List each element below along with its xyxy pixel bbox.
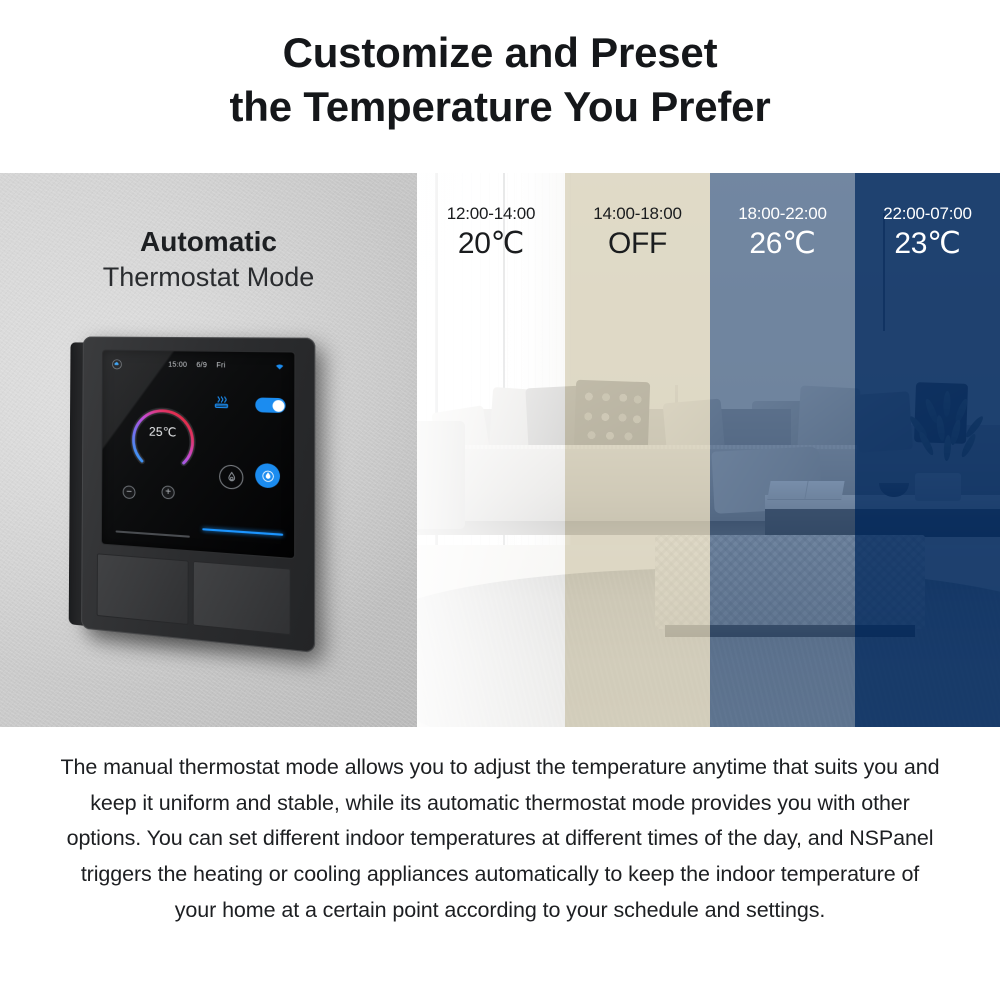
- status-time: 15:00: [168, 361, 187, 368]
- schedule-panel-4: 22:00-07:00 23℃: [855, 173, 1000, 727]
- temperature-dial[interactable]: 25℃: [120, 387, 207, 478]
- humidity-mode-button[interactable]: [219, 464, 243, 489]
- thermostat-mode-button[interactable]: [255, 463, 280, 489]
- headline-line-2: the Temperature You Prefer: [0, 80, 1000, 134]
- wifi-icon: [275, 362, 285, 372]
- schedule-value-1: 20℃: [417, 224, 565, 265]
- cloud-icon: [112, 359, 123, 370]
- mode-title-bold: Automatic: [0, 225, 417, 260]
- schedule-time-4: 22:00-07:00: [855, 205, 1000, 224]
- hero-image: Automatic Thermostat Mode: [0, 173, 1000, 727]
- schedule-value-2: OFF: [565, 224, 710, 265]
- schedule-overlay-panels: 12:00-14:00 20℃ 14:00-18:00 OFF 18:00-22…: [417, 173, 1000, 727]
- status-date: 6/9: [196, 362, 207, 369]
- product-feature-page: Customize and Preset the Temperature You…: [0, 0, 1000, 1000]
- schedule-time-2: 14:00-18:00: [565, 205, 710, 224]
- device-body-3d: 15:00 6/9 Fri: [81, 337, 315, 653]
- schedule-value-4: 23℃: [855, 224, 1000, 265]
- physical-button-right[interactable]: [193, 561, 291, 635]
- page-title: Customize and Preset the Temperature You…: [0, 26, 1000, 134]
- heater-icon: [213, 395, 230, 410]
- nspanel-device[interactable]: 15:00 6/9 Fri: [82, 336, 322, 646]
- indicator-bar-right: [202, 528, 283, 535]
- schedule-panel-2: 14:00-18:00 OFF: [565, 173, 710, 727]
- decrease-temperature-button[interactable]: −: [123, 485, 136, 499]
- schedule-time-1: 12:00-14:00: [417, 205, 565, 224]
- schedule-panel-1: 12:00-14:00 20℃: [417, 173, 565, 727]
- physical-button-left[interactable]: [97, 553, 189, 625]
- automatic-mode-heading: Automatic Thermostat Mode: [0, 225, 417, 295]
- indicator-bar-left: [116, 530, 190, 537]
- mode-title-regular: Thermostat Mode: [0, 260, 417, 295]
- screen-status-bar: 15:00 6/9 Fri: [103, 357, 295, 375]
- description-paragraph: The manual thermostat mode allows you to…: [60, 750, 940, 928]
- schedule-value-3: 26℃: [710, 224, 855, 265]
- schedule-time-3: 18:00-22:00: [710, 205, 855, 224]
- toggle-knob: [272, 399, 284, 411]
- increase-temperature-button[interactable]: +: [161, 485, 174, 499]
- device-touchscreen[interactable]: 15:00 6/9 Fri: [102, 351, 295, 558]
- status-weekday: Fri: [216, 362, 225, 369]
- headline-line-1: Customize and Preset: [283, 29, 718, 76]
- schedule-panel-3: 18:00-22:00 26℃: [710, 173, 855, 727]
- heating-toggle-switch[interactable]: [255, 397, 285, 413]
